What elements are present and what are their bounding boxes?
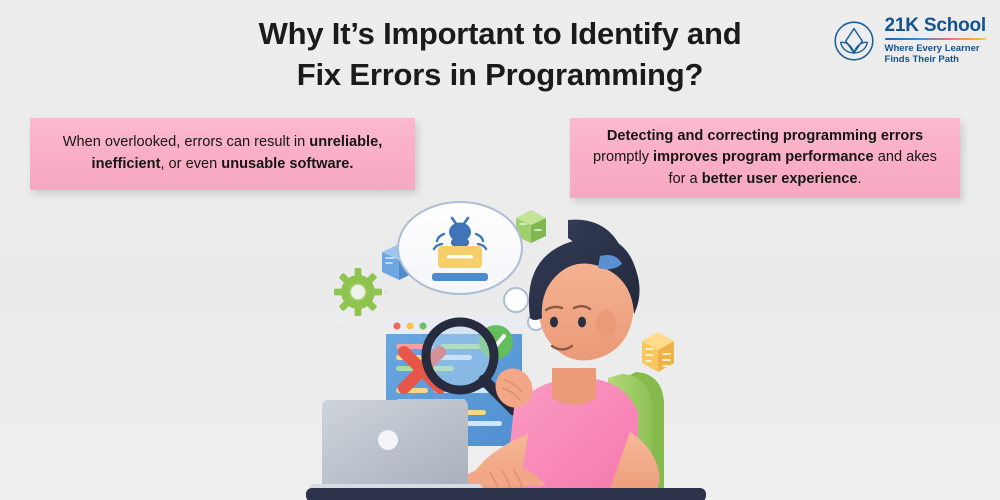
- brand-logo[interactable]: 21K School Where Every Learner Finds The…: [832, 16, 986, 65]
- lotus-circle-icon: [832, 19, 876, 63]
- callout-right-text: Detecting and correcting programming err…: [584, 126, 946, 191]
- hero-illustration: [300, 196, 720, 500]
- desk: [306, 488, 706, 500]
- callout-left: When overlooked, errors can result in un…: [30, 118, 415, 190]
- logo-tagline-line-1: Where Every Learner: [885, 43, 986, 54]
- logo-text-block: 21K School Where Every Learner Finds The…: [885, 16, 986, 65]
- page-title-line-2: Fix Errors in Programming?: [170, 55, 830, 96]
- logo-divider: [885, 38, 986, 41]
- laptop-icon: [304, 400, 488, 494]
- yellow-box-icon: [642, 332, 674, 372]
- logo-name: 21K School: [885, 16, 986, 36]
- page-title: Why It’s Important to Identify and Fix E…: [170, 14, 830, 96]
- callout-left-text: When overlooked, errors can result in un…: [44, 132, 401, 175]
- slide-canvas: Why It’s Important to Identify and Fix E…: [0, 0, 1000, 500]
- page-title-line-1: Why It’s Important to Identify and: [259, 16, 742, 51]
- callout-right: Detecting and correcting programming err…: [570, 118, 960, 198]
- logo-tagline-line-2: Finds Their Path: [885, 54, 986, 65]
- gear-icon: [334, 268, 382, 316]
